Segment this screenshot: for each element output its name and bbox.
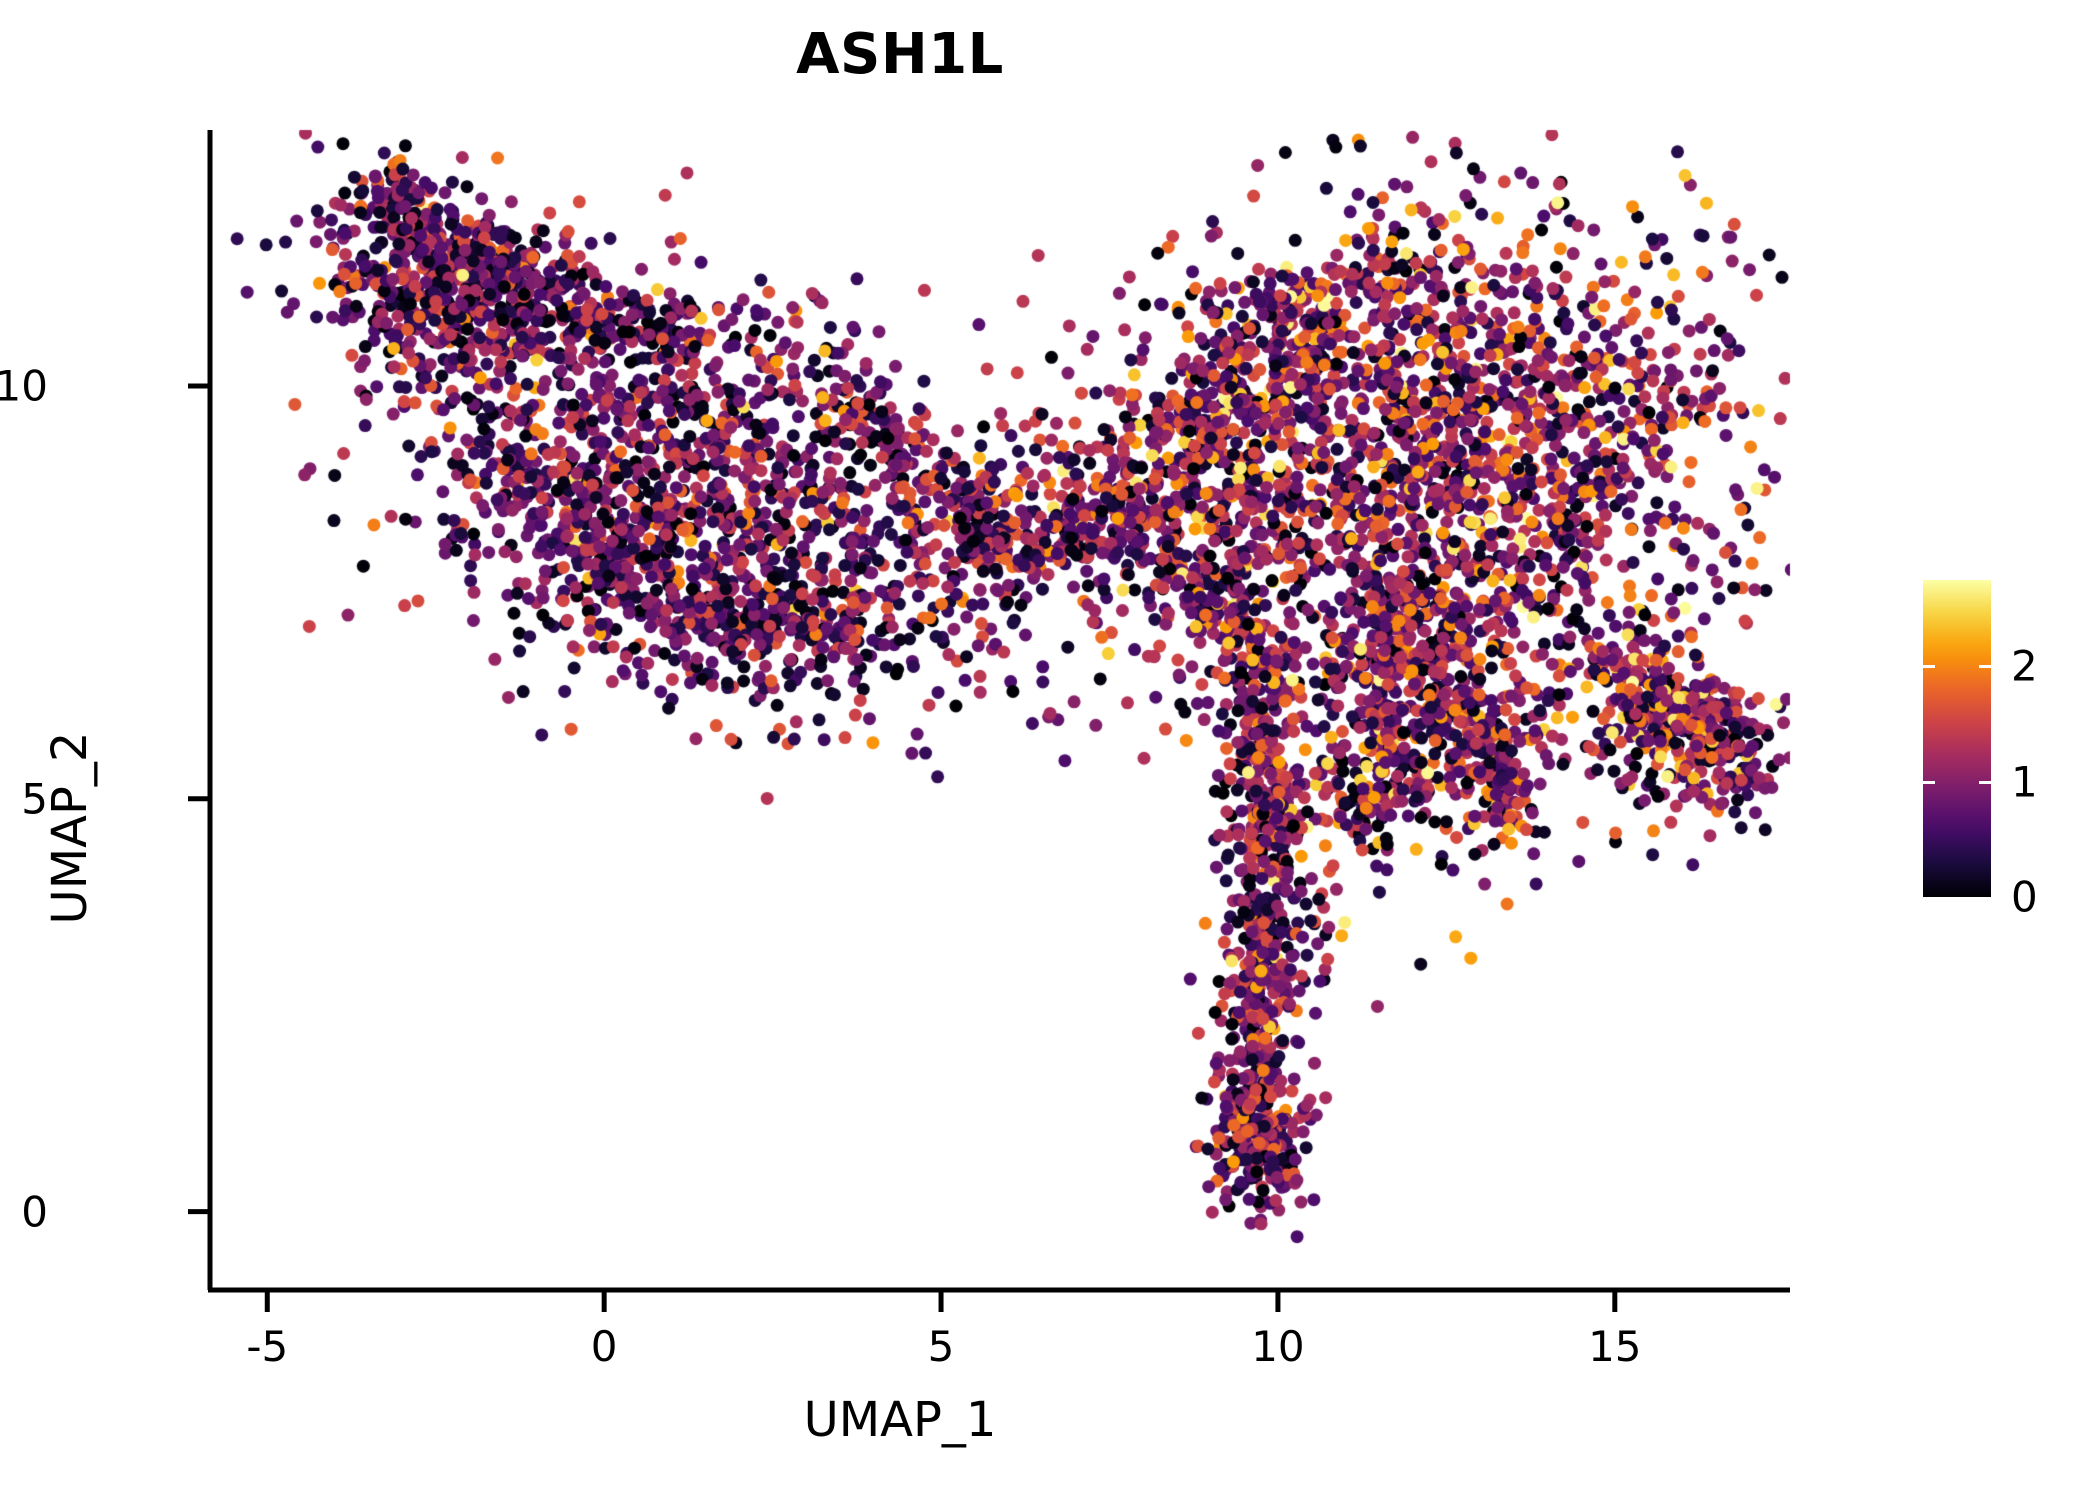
colorbar-tick-label: 1 (2011, 757, 2038, 806)
x-tick-label: -5 (246, 1322, 288, 1371)
colorbar-tick-label: 2 (2011, 642, 2038, 691)
x-tick-label: 0 (591, 1322, 618, 1371)
colorbar-tick-mark (1979, 781, 1991, 784)
colorbar-tick-mark (1979, 665, 1991, 668)
colorbar-tick-label: 0 (2011, 873, 2038, 922)
colorbar[interactable]: 012 (1923, 580, 1991, 897)
scatter-points-canvas (0, 0, 2100, 1500)
x-tick-label: 5 (928, 1322, 955, 1371)
colorbar-tick-mark (1923, 781, 1935, 784)
feature-plot-figure: ASH1L -5051015 0510 UMAP_1 UMAP_2 012 (0, 0, 2100, 1500)
x-tick-label: 10 (1251, 1322, 1304, 1371)
y-tick-label: 10 (0, 361, 48, 410)
x-axis-label: UMAP_1 (0, 1392, 1800, 1448)
colorbar-gradient (1923, 580, 1991, 897)
colorbar-tick-mark (1923, 665, 1935, 668)
y-axis-label: UMAP_2 (42, 428, 98, 1228)
x-tick-label: 15 (1588, 1322, 1641, 1371)
